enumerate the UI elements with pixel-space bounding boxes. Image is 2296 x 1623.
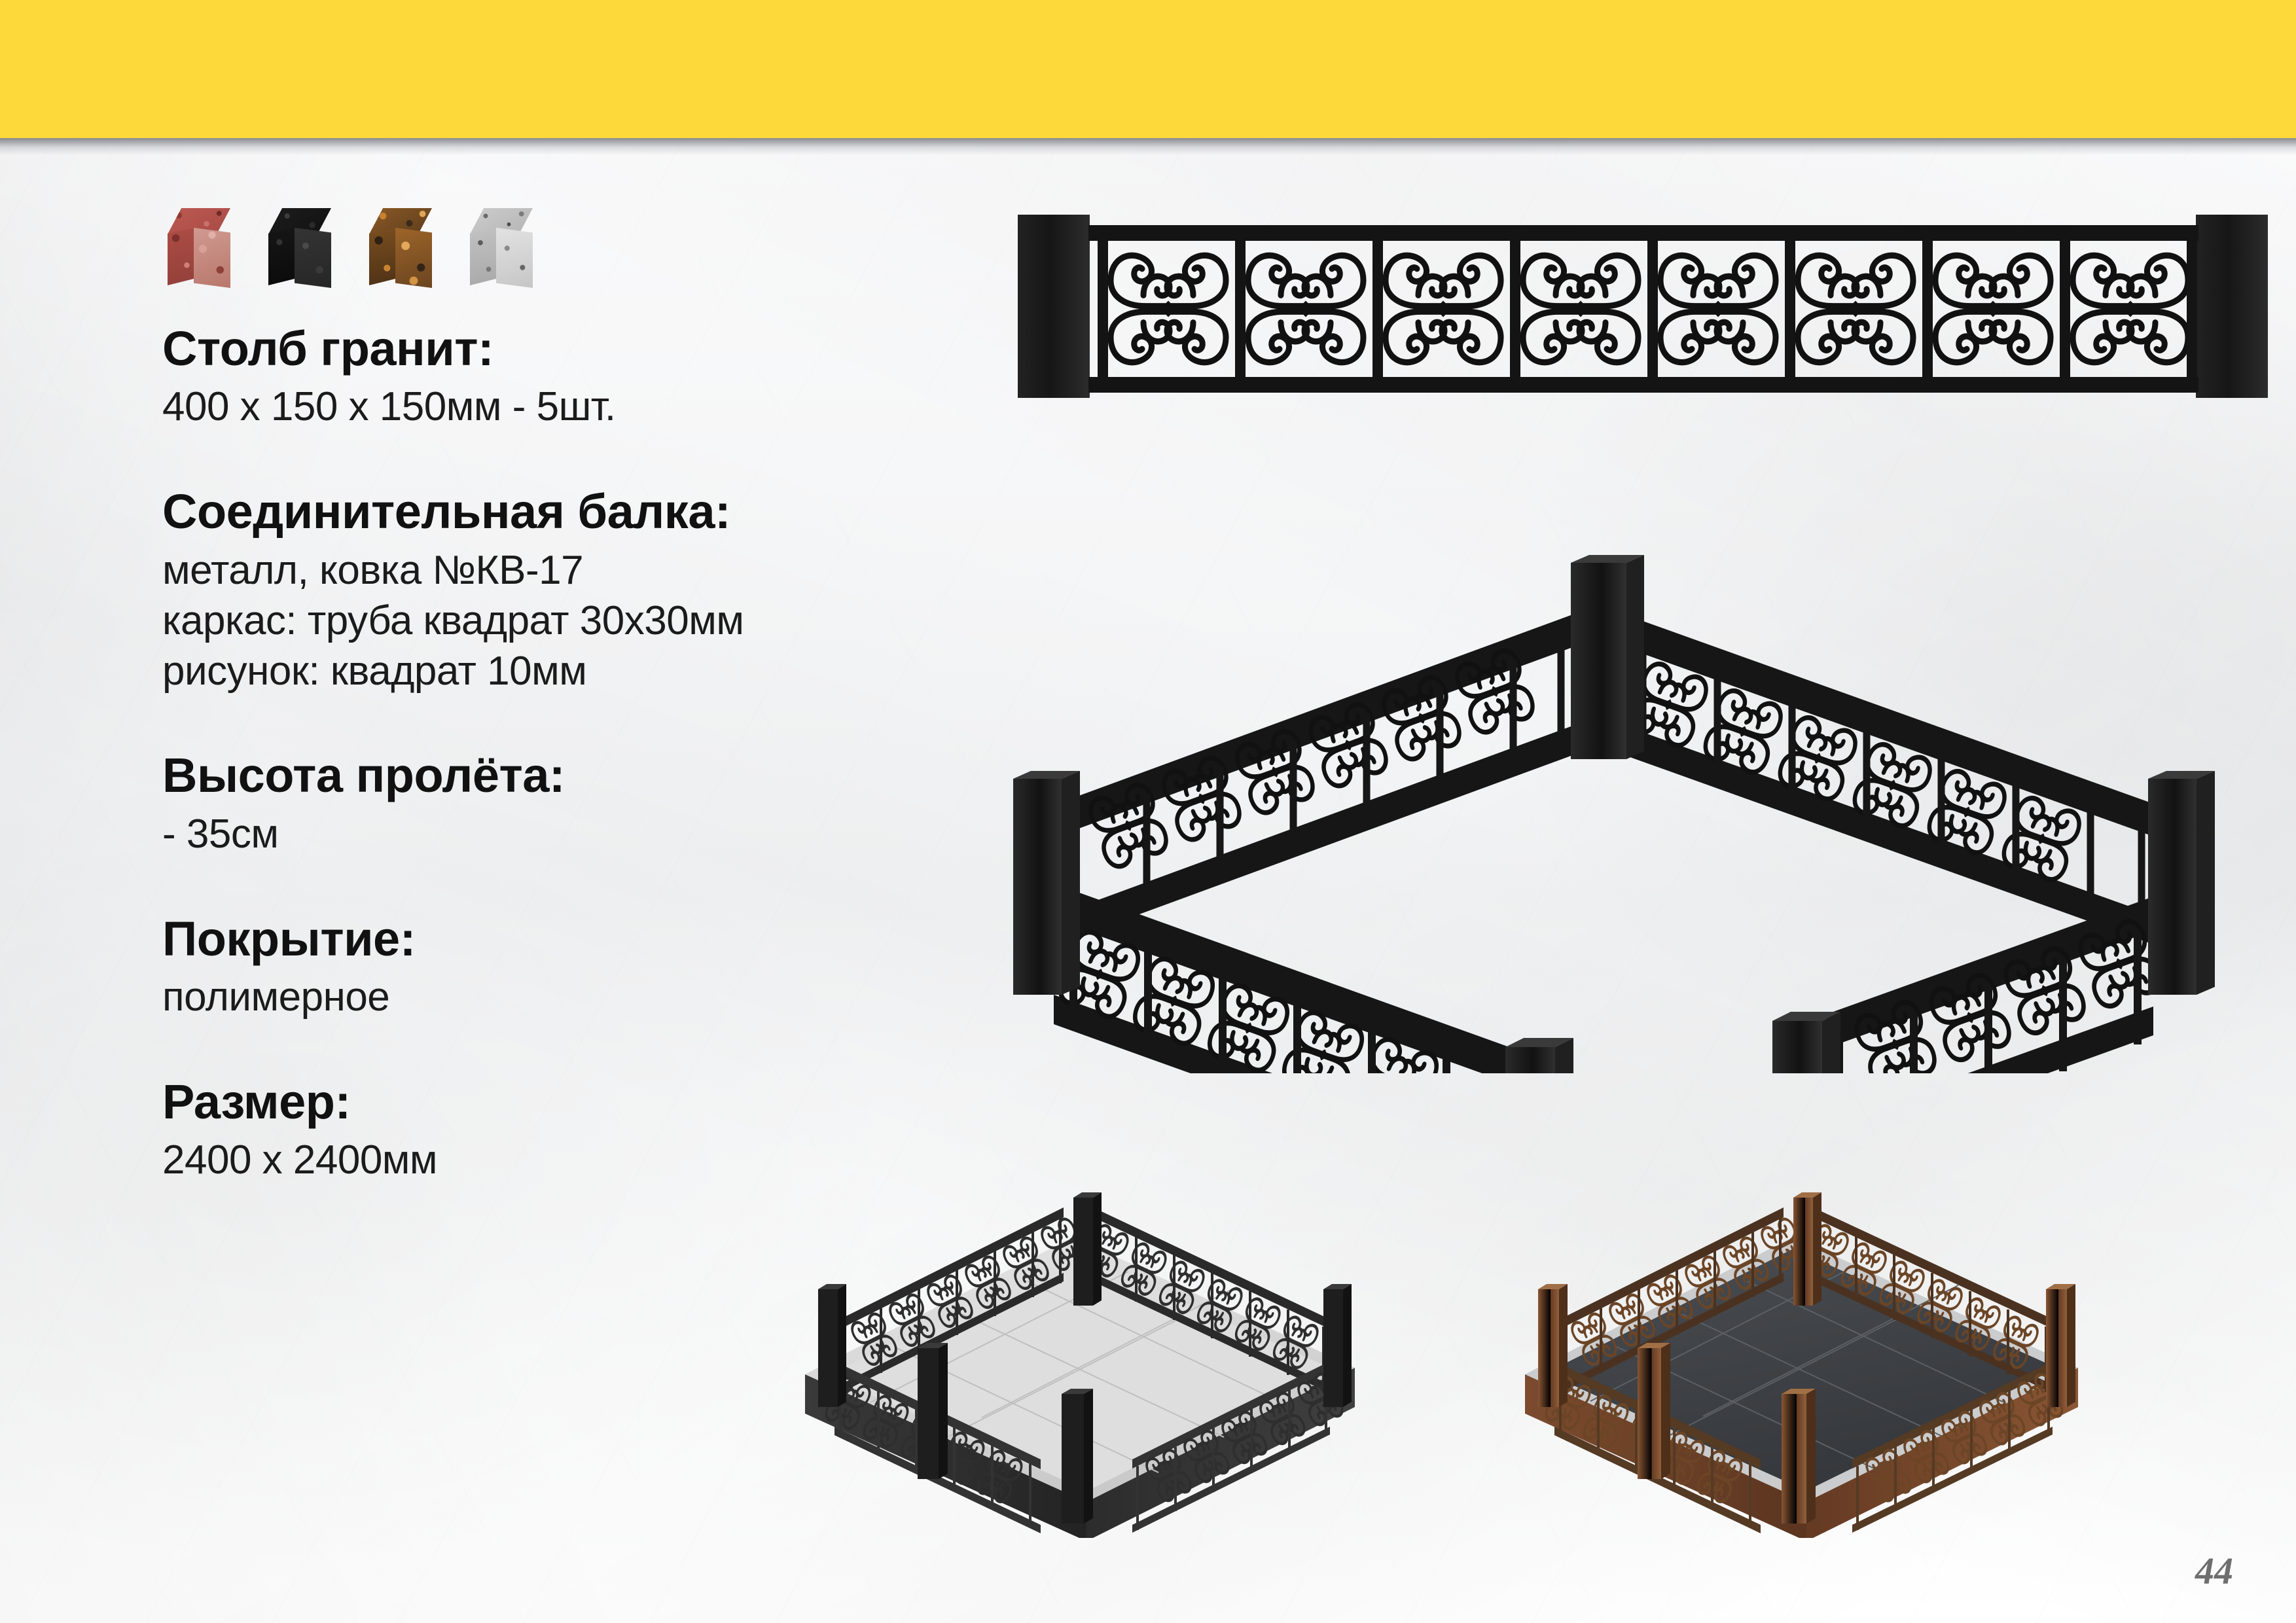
granite-sample-red	[162, 208, 240, 287]
fence-run-front-right	[1826, 897, 2162, 1073]
granite-sample-black	[263, 208, 340, 287]
spec-value: полимерное	[162, 972, 1026, 1023]
beam-top	[1088, 225, 2198, 241]
page-number: 44	[2195, 1549, 2233, 1593]
granite-post-right	[2046, 1284, 2075, 1407]
granite-post-back	[1793, 1192, 1821, 1306]
granite-post-front-center	[1062, 1389, 1093, 1524]
spec-value: каркас: труба квадрат 30х30мм	[162, 596, 1026, 647]
fence-render-brown-granite	[1486, 1132, 2127, 1538]
spec-value: металл, ковка №КВ-17	[162, 546, 1026, 596]
fence-elevation-drawing	[1011, 208, 2274, 411]
granite-post-front-left	[1638, 1343, 1670, 1479]
swatch-face-right	[496, 228, 533, 288]
beam-bottom	[1088, 377, 2198, 393]
granite-post-back	[1073, 1192, 1102, 1306]
granite-swatch-row	[162, 208, 1026, 287]
swatch-face-left	[369, 228, 397, 285]
swatch-face-left	[168, 228, 195, 285]
spec-block-beam: Соединительная балка: металл, ковка №КВ-…	[162, 486, 1026, 696]
spec-block-size: Размер: 2400 x 2400мм	[162, 1077, 1026, 1186]
spec-value: - 35см	[162, 810, 1026, 860]
swatch-face-right	[295, 228, 331, 288]
fence-run-front-left	[1054, 883, 1518, 1073]
swatch-face-right	[395, 228, 432, 288]
swatch-face-left	[470, 228, 497, 285]
spec-value: 2400 x 2400мм	[162, 1135, 1026, 1186]
granite-sample-grey	[465, 208, 542, 287]
swatch-face-left	[268, 228, 296, 285]
fence-run-back-right	[1626, 615, 2153, 944]
granite-post-right	[2148, 771, 2215, 995]
swatch-face-right	[194, 228, 230, 288]
granite-post-right	[1323, 1284, 1352, 1407]
spec-heading: Размер:	[162, 1077, 1026, 1128]
granite-post-front-center	[1782, 1389, 1816, 1524]
granite-post-right	[2196, 215, 2268, 398]
specification-column: Столб гранит: 400 x 150 x 150мм - 5шт. С…	[162, 208, 1026, 1240]
granite-post-front-left	[1505, 1038, 1573, 1073]
spec-block-height: Высота пролёта: - 35см	[162, 750, 1026, 859]
granite-post-left	[1018, 215, 1090, 398]
header-shadow	[0, 138, 2296, 155]
spec-block-post: Столб гранит: 400 x 150 x 150мм - 5шт.	[162, 323, 1026, 433]
granite-post-left	[1538, 1284, 1568, 1407]
header-band	[0, 0, 2296, 138]
granite-post-front-right	[1772, 1012, 1840, 1073]
spec-block-coating: Покрытие: полимерное	[162, 914, 1026, 1023]
vertical-bars	[1098, 241, 2197, 378]
granite-post-back-corner	[1571, 555, 1644, 759]
granite-sample-brown	[364, 208, 441, 287]
spec-heading: Столб гранит:	[162, 323, 1026, 374]
spec-value: рисунок: квадрат 10мм	[162, 647, 1026, 697]
fence-perspective-drawing	[982, 497, 2291, 1073]
fence-run-back-left	[1054, 615, 1571, 946]
spec-heading: Высота пролёта:	[162, 750, 1026, 801]
granite-post-left	[818, 1284, 846, 1407]
spec-heading: Соединительная балка:	[162, 486, 1026, 537]
spec-heading: Покрытие:	[162, 914, 1026, 965]
spec-value: 400 x 150 x 150мм - 5шт.	[162, 382, 1026, 433]
granite-post-front-left	[918, 1343, 948, 1479]
